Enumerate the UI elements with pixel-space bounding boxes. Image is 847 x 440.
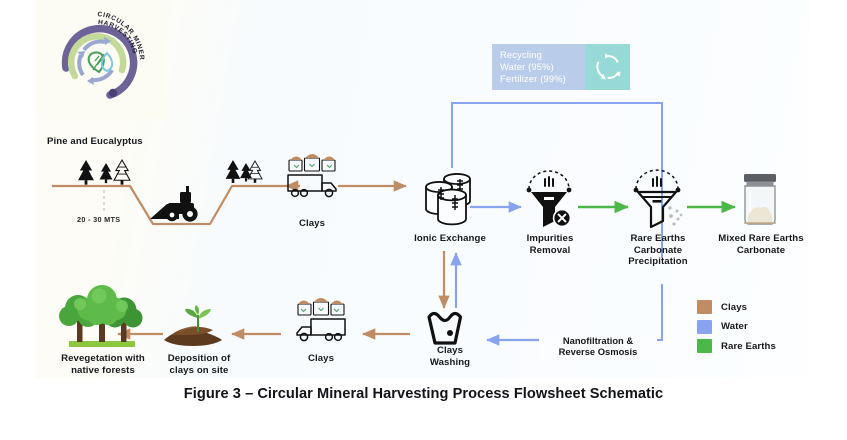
node-label-revegetation: Revegetation with native forests bbox=[44, 353, 162, 376]
funnel-particles-icon bbox=[634, 170, 683, 227]
legend-label-rare-earths: Rare Earths bbox=[721, 341, 776, 352]
legend-item-water: Water bbox=[697, 320, 802, 334]
funnel-x-icon bbox=[527, 171, 572, 227]
legend-label-water: Water bbox=[721, 321, 748, 332]
recycling-line-1: Recycling bbox=[500, 49, 585, 61]
figure-root: CIRCULAR MINERAL HARVESTING bbox=[0, 0, 847, 440]
clay-sacks-dump-truck-icon-bottom bbox=[297, 298, 345, 341]
legend-item-rare-earths: Rare Earths bbox=[697, 339, 802, 353]
legend-swatch-clays bbox=[697, 300, 712, 314]
legend-swatch-water bbox=[697, 320, 712, 334]
node-label-deposition: Deposition of clays on site bbox=[156, 353, 242, 376]
clay-sacks-dump-truck-icon-top bbox=[288, 154, 336, 197]
native-forest-trees-icon bbox=[59, 285, 143, 347]
node-label-clays-bottom: Clays bbox=[281, 353, 361, 365]
recycling-badge: Recycling Water (95%) Fertilizer (99%) bbox=[492, 44, 630, 90]
recycle-arrows-icon bbox=[585, 44, 630, 90]
recycling-line-3: Fertilizer (99%) bbox=[500, 73, 585, 85]
node-label-impurities-removal: Impurities Removal bbox=[504, 233, 596, 256]
circular-mineral-harvesting-logo: CIRCULAR MINERAL HARVESTING bbox=[66, 11, 146, 97]
nanofiltration-label: Nanofiltration & Reverse Osmosis bbox=[539, 334, 657, 359]
wash-basin-icon bbox=[429, 314, 461, 344]
figure-caption: Figure 3 – Circular Mineral Harvesting P… bbox=[0, 386, 847, 402]
tanks-icon bbox=[426, 174, 470, 224]
legend: Clays Water Rare Earths bbox=[697, 300, 802, 359]
node-label-ionic-exchange: Ionic Exchange bbox=[398, 233, 502, 245]
legend-item-clays: Clays bbox=[697, 300, 802, 314]
pine-trees-right-icon bbox=[226, 160, 262, 183]
trench-depth-label: 20 - 30 MTS bbox=[77, 215, 120, 224]
powder-jar-icon bbox=[744, 174, 776, 224]
legend-label-clays: Clays bbox=[721, 302, 747, 313]
pine-eucalyptus-label: Pine and Eucalyptus bbox=[47, 136, 207, 148]
recycling-badge-text: Recycling Water (95%) Fertilizer (99%) bbox=[492, 44, 585, 90]
node-label-rare-earths-precipitation: Rare Earths Carbonate Precipitation bbox=[608, 233, 708, 268]
node-label-mixed-rare-earths: Mixed Rare Earths Carbonate bbox=[706, 233, 816, 256]
node-label-clays-washing: Clays Washing bbox=[412, 345, 488, 368]
pine-trees-left-icon bbox=[78, 160, 130, 185]
bulldozer-icon bbox=[150, 186, 198, 222]
legend-swatch-rare-earths bbox=[697, 339, 712, 353]
soil-mound-seedling-icon bbox=[164, 305, 222, 346]
recycling-line-2: Water (95%) bbox=[500, 61, 585, 73]
nanofiltration-line-right bbox=[657, 284, 662, 340]
node-label-clays-top: Clays bbox=[272, 218, 352, 230]
